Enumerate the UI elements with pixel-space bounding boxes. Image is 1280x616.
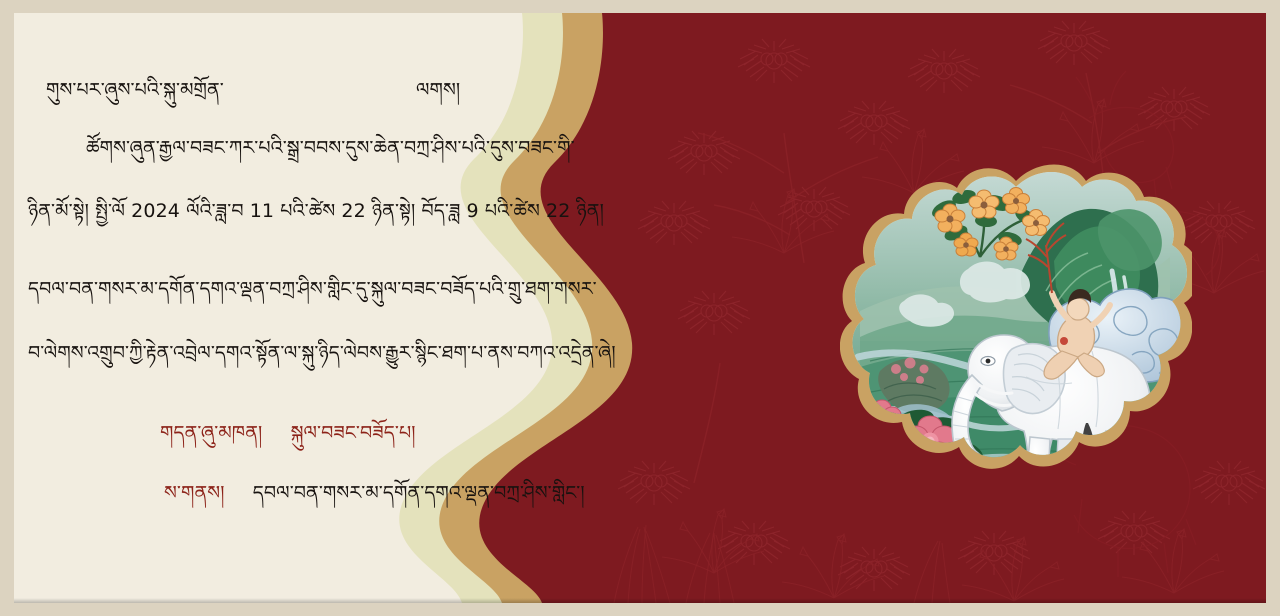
bottom-water (950, 490, 1116, 518)
lower-right-rocks (1122, 427, 1183, 498)
location-label: ས་གནས། (164, 482, 225, 504)
lags-honorific: ལགས། (416, 80, 460, 101)
invitation-card: གུས་པར་ཞུས་པའི་སྐུ་མགྲོན་ ལགས། ཚོགས་ཞུན་… (0, 0, 1280, 616)
invitation-text-block: གུས་པར་ཞུས་པའི་སྐུ་མགྲོན་ ལགས། ཚོགས་ཞུན་… (14, 13, 674, 603)
body-line-3-venue: དབལ་བན་གསར་མ་དགོན་དགའ་ལྡན་བཀྲ་ཤིས་གླིང་ད… (28, 279, 597, 300)
peony-bloom (870, 456, 926, 506)
location-line: ས་གནས། དབལ་བན་གསར་མ་དགོན་དགའ་ལྡན་བཀྲ་ཤིས… (164, 483, 585, 504)
rider-ornament (1060, 337, 1068, 345)
card-inner-canvas: གུས་པར་ཞུས་པའི་སྐུ་མགྲོན་ ལགས། ཚོགས་ཞུན་… (14, 13, 1266, 603)
host-line: གདན་ཞུ་མཁན། སྐུལ་བཟང་བཟོད་པ། (160, 423, 416, 444)
peony-bloom (953, 489, 999, 518)
elephant-eye (981, 357, 995, 366)
body-line-4-invitation: བ་ལེགས་འགྲུབ་ཀྱི་རྟེན་འབྲེལ་དགའ་སྟོན་ལ་ས… (28, 343, 616, 364)
host-name: སྐུལ་བཟང་བཟོད་པ། (291, 422, 416, 444)
peony-bud (985, 471, 999, 503)
body-line-1: ཚོགས་ཞུན་རྒྱལ་བཟང་ཀར་པའི་སྒྲ་བབས་དུས་ཆེན… (86, 138, 575, 159)
body-line-2-date: ཉིན་མོ་སྟེ། སྤྱི་ལོ 2024 ལོའི་ཟླ་བ 11 པའ… (28, 201, 604, 222)
host-label: གདན་ཞུ་མཁན། (160, 422, 262, 444)
location-name: དབལ་བན་གསར་མ་དགོན་དགའ་ལྡན་བཀྲ་ཤིས་གླིང་། (253, 482, 585, 504)
guest-label: གུས་པར་ཞུས་པའི་སྐུ་མགྲོན་ (46, 80, 224, 101)
lotus-medallion-illustration (840, 161, 1192, 517)
